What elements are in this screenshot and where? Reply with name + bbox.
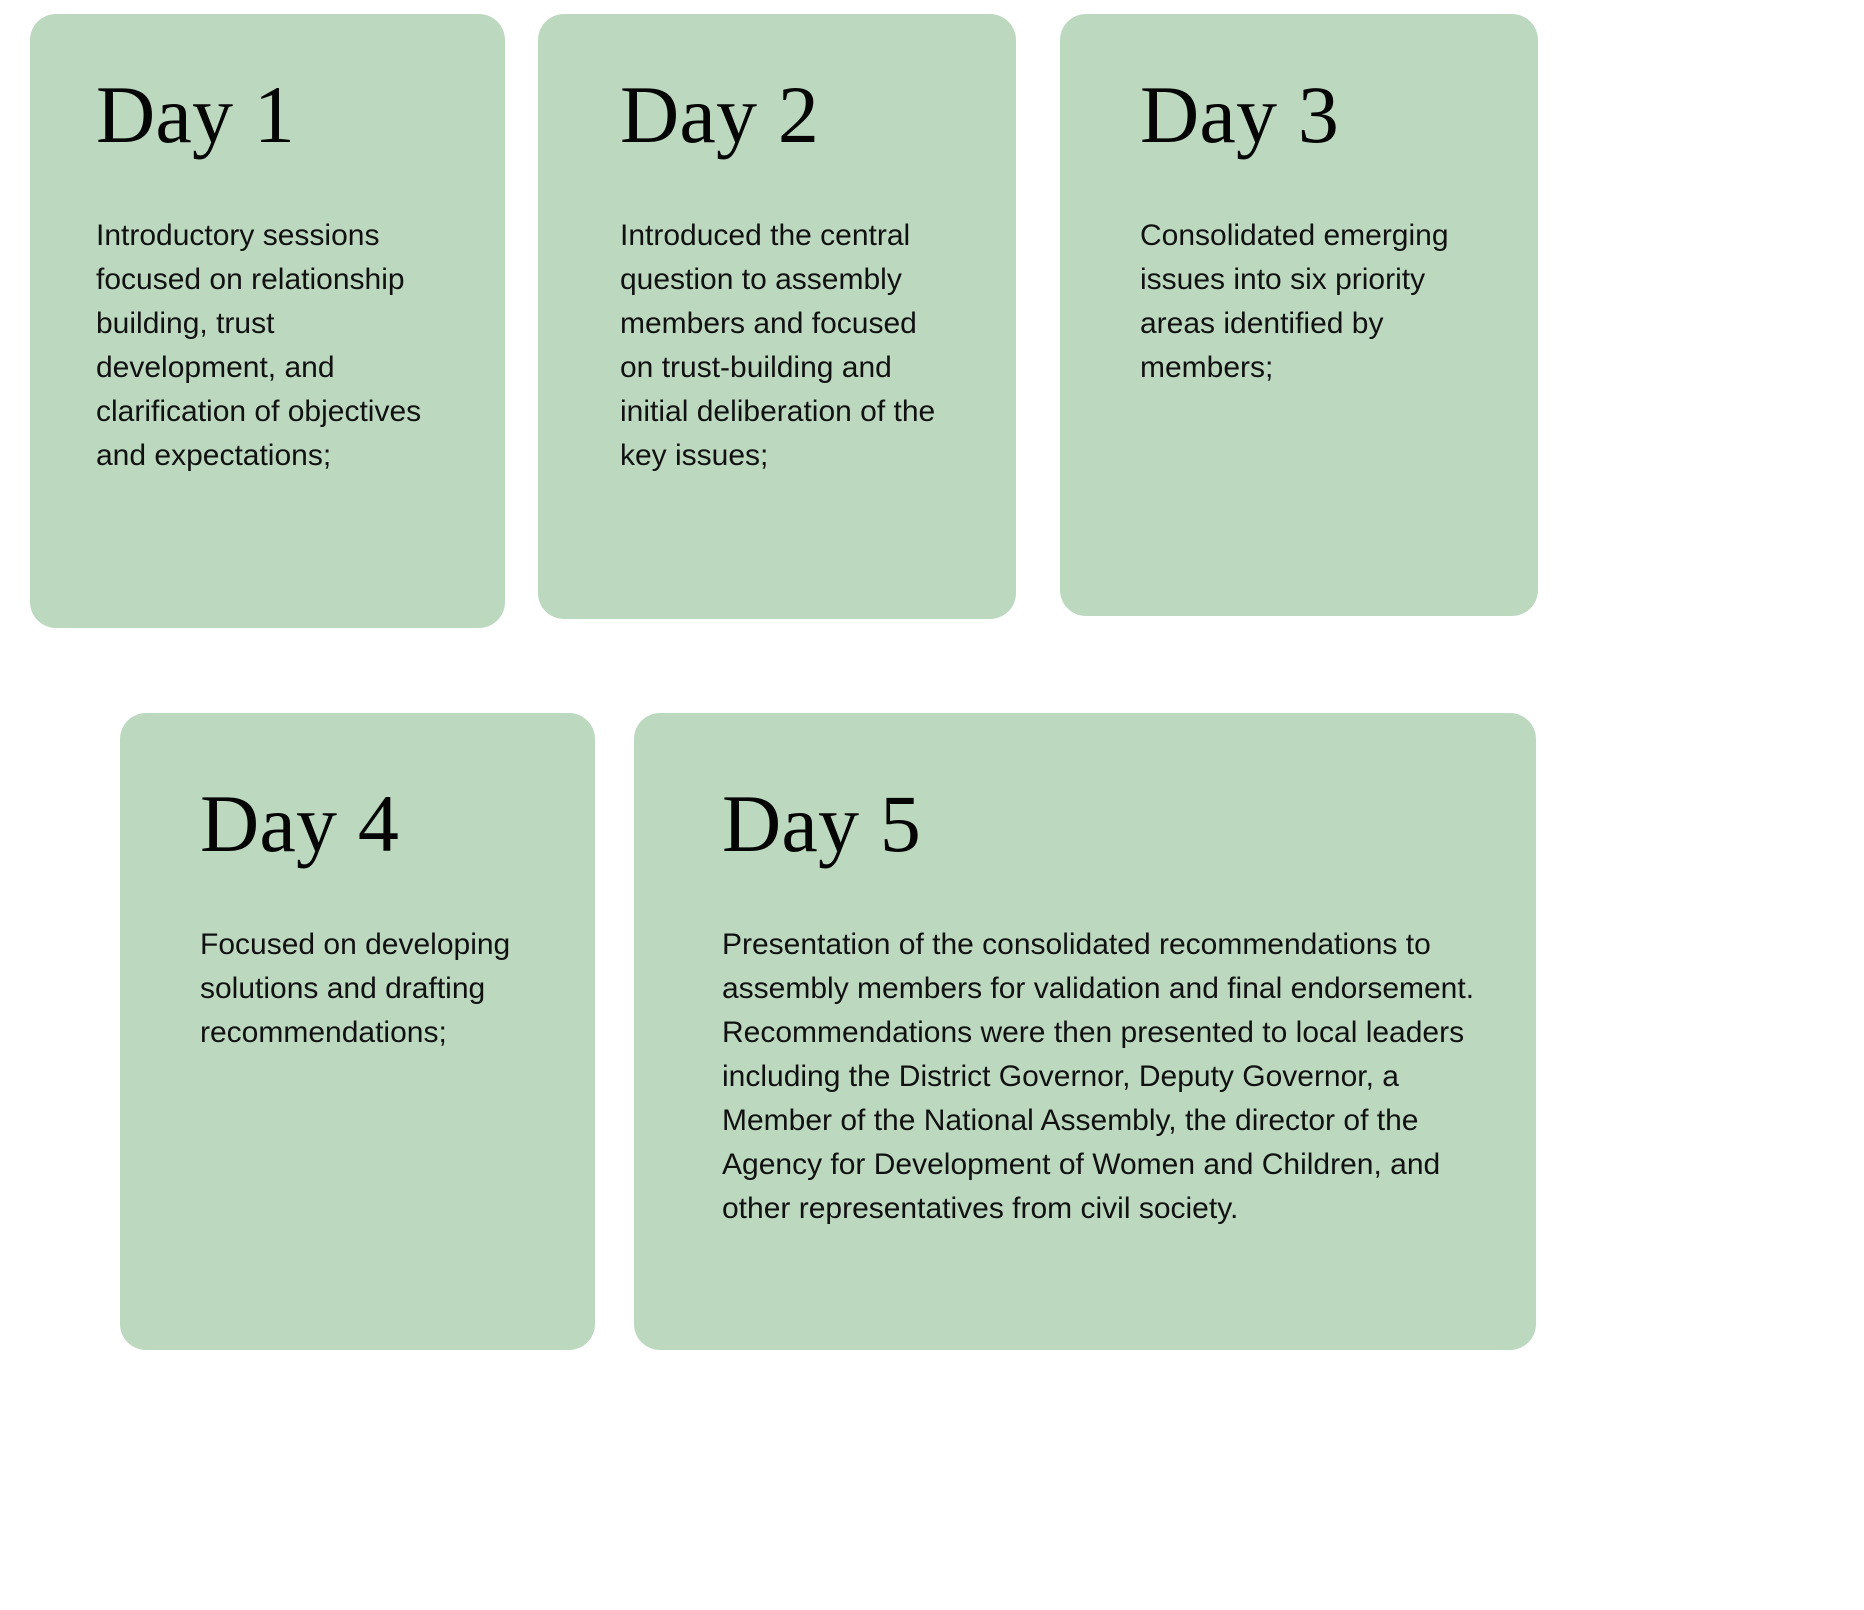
day-card-3: Day 3 Consolidated emerging issues into … bbox=[1060, 14, 1538, 616]
day-card-4-body: Focused on developing solutions and draf… bbox=[200, 923, 530, 1055]
day-card-1: Day 1 Introductory sessions focused on r… bbox=[30, 14, 505, 628]
day-card-4: Day 4 Focused on developing solutions an… bbox=[120, 713, 595, 1350]
day-card-5-title: Day 5 bbox=[722, 783, 1502, 865]
day-card-3-title: Day 3 bbox=[1140, 74, 1500, 156]
day-card-4-content: Day 4 Focused on developing solutions an… bbox=[200, 783, 560, 1055]
day-card-1-content: Day 1 Introductory sessions focused on r… bbox=[96, 74, 456, 478]
day-card-1-body: Introductory sessions focused on relatio… bbox=[96, 214, 426, 478]
day-card-2-body: Introduced the central question to assem… bbox=[620, 214, 950, 478]
day-card-3-content: Day 3 Consolidated emerging issues into … bbox=[1140, 74, 1500, 390]
day-card-2-title: Day 2 bbox=[620, 74, 980, 156]
day-card-4-title: Day 4 bbox=[200, 783, 560, 865]
day-card-5-body: Presentation of the consolidated recomme… bbox=[722, 923, 1482, 1231]
day-cards-board: Day 1 Introductory sessions focused on r… bbox=[0, 0, 1864, 1610]
day-card-5-content: Day 5 Presentation of the consolidated r… bbox=[722, 783, 1502, 1231]
day-card-3-body: Consolidated emerging issues into six pr… bbox=[1140, 214, 1470, 390]
day-card-2-content: Day 2 Introduced the central question to… bbox=[620, 74, 980, 478]
day-card-1-title: Day 1 bbox=[96, 74, 456, 156]
day-card-2: Day 2 Introduced the central question to… bbox=[538, 14, 1016, 619]
day-card-5: Day 5 Presentation of the consolidated r… bbox=[634, 713, 1536, 1350]
